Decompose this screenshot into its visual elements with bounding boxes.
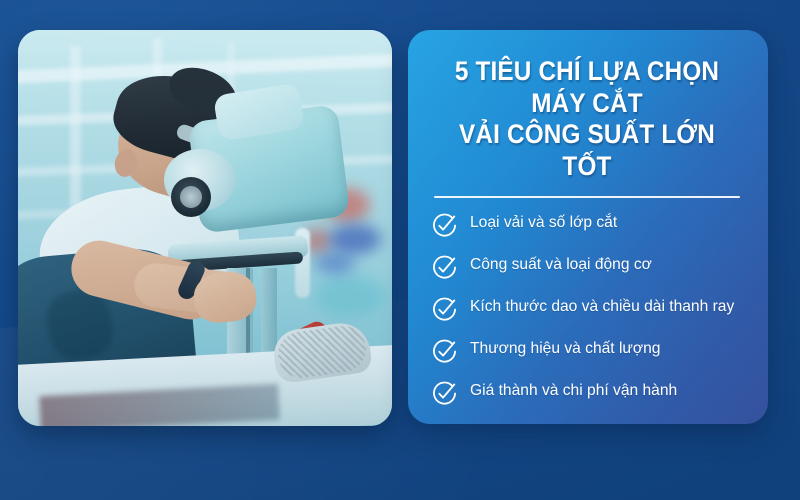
list-item-label: Thương hiệu và chất lượng bbox=[470, 338, 660, 359]
list-item-label: Kích thước dao và chiều dài thanh ray bbox=[470, 296, 734, 317]
list-item-label: Công suất và loại động cơ bbox=[470, 254, 652, 275]
criteria-list: Loại vải và số lớp cắt Công suất và loại… bbox=[428, 212, 746, 406]
check-circle-icon bbox=[432, 297, 457, 322]
page-title: 5 TIÊU CHÍ LỰA CHỌN MÁY CẮT VẢI CÔNG SUẤ… bbox=[444, 56, 730, 182]
list-item: Công suất và loại động cơ bbox=[432, 254, 744, 280]
list-item: Loại vải và số lớp cắt bbox=[432, 212, 744, 238]
check-circle-icon bbox=[432, 255, 457, 280]
infographic-canvas: 5 TIÊU CHÍ LỰA CHỌN MÁY CẮT VẢI CÔNG SUẤ… bbox=[0, 0, 800, 500]
check-circle-icon bbox=[432, 213, 457, 238]
title-divider bbox=[434, 196, 740, 198]
title-line-1: 5 TIÊU CHÍ LỰA CHỌN MÁY CẮT bbox=[444, 56, 730, 119]
photo-color-tint bbox=[18, 30, 392, 426]
title-line-2: VẢI CÔNG SUẤT LỚN TỐT bbox=[444, 119, 730, 182]
list-item: Thương hiệu và chất lượng bbox=[432, 338, 744, 364]
list-item: Kích thước dao và chiều dài thanh ray bbox=[432, 296, 744, 322]
check-circle-icon bbox=[432, 381, 457, 406]
list-item-label: Loại vải và số lớp cắt bbox=[470, 212, 617, 233]
check-circle-icon bbox=[432, 339, 457, 364]
list-item: Giá thành và chi phí vận hành bbox=[432, 380, 744, 406]
worker-photo bbox=[18, 30, 392, 426]
content-panel: 5 TIÊU CHÍ LỰA CHỌN MÁY CẮT VẢI CÔNG SUẤ… bbox=[408, 30, 768, 424]
list-item-label: Giá thành và chi phí vận hành bbox=[470, 380, 677, 401]
